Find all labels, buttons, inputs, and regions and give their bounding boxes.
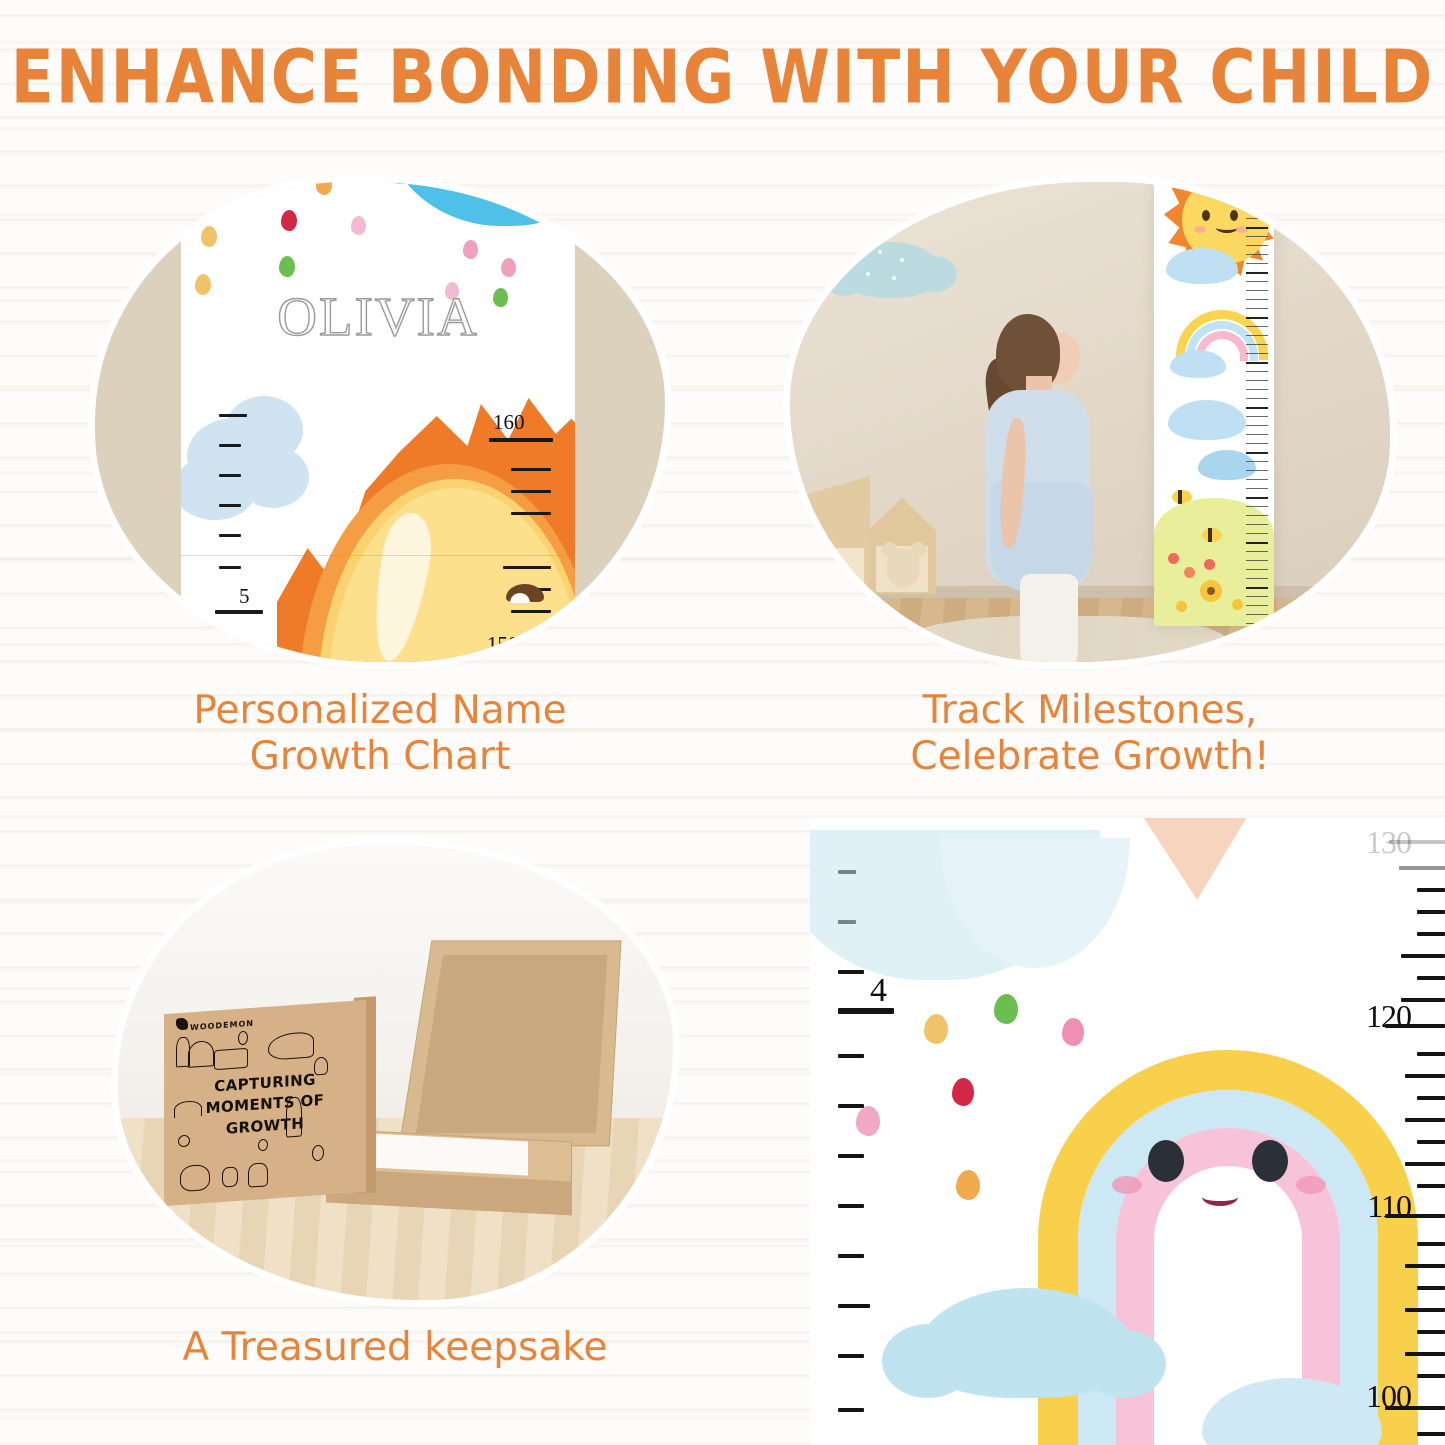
ruler-tick-left (838, 1154, 864, 1158)
ruler-tick-left (219, 414, 247, 417)
confetti-dot (201, 226, 217, 247)
tulip-icon (1184, 567, 1195, 578)
animal-doodle (222, 1166, 238, 1187)
cloud-icon (1168, 400, 1246, 440)
palm-tree-doodle (248, 1162, 268, 1187)
cactus-doodle (176, 1037, 190, 1068)
ruler-number-left: 5 (239, 584, 250, 609)
chart-board: OLIVIA 5 160 150 (181, 182, 575, 662)
ruler-number-120: 120 (1366, 998, 1411, 1035)
ruler-tick-right (511, 468, 551, 471)
confetti-dot (952, 1078, 974, 1106)
sunflower-icon (1200, 580, 1222, 602)
rainbow-cheek-left (1112, 1176, 1142, 1194)
ruler-tick (1417, 1140, 1445, 1144)
sun-cheek (1194, 226, 1206, 233)
ruler-tick (1417, 1184, 1445, 1188)
ruler-graduations-major (1246, 182, 1268, 626)
ruler-tick-mid (1401, 954, 1445, 958)
ruler-tick-left (838, 1408, 864, 1412)
ruler-tick-left-major (215, 610, 263, 614)
panel-personalized-chart: OLIVIA 5 160 150 (95, 182, 665, 662)
bee-icon (1202, 528, 1222, 542)
ruler-tick-left (838, 1104, 864, 1108)
ruler-tick-left (838, 1054, 864, 1058)
rainbow-eye-right (1252, 1140, 1288, 1182)
ruler-number-left-4: 4 (870, 972, 887, 1010)
ruler-tick-major (1385, 1406, 1445, 1410)
ruler-tick-major (1399, 866, 1445, 870)
ruler-tick-major (1385, 1214, 1445, 1218)
confetti-dot (994, 994, 1018, 1024)
peach-sun-ray (1140, 818, 1250, 900)
teddy-bear-ear (882, 542, 898, 558)
caption-personalized-chart: Personalized Name Growth Chart (95, 688, 665, 780)
blue-cloud (381, 182, 575, 226)
ruler-tick-left (838, 970, 864, 974)
ruler-tick (1417, 932, 1445, 936)
lion-body-doodle (214, 1048, 248, 1070)
ruler-number-right: 150 (487, 632, 519, 657)
confetti-dot (1062, 1018, 1084, 1046)
ruler-tick-left (219, 566, 241, 569)
page-headline: ENHANCE BONDING WITH YOUR CHILD (0, 40, 1445, 114)
tulip-icon (1168, 553, 1179, 564)
ruler-tick-right (511, 512, 551, 515)
ruler-tick-left (219, 474, 241, 477)
ruler-tick-mid (1405, 1308, 1445, 1312)
ruler-tick-major (1385, 1024, 1445, 1028)
confetti-dot (251, 182, 267, 188)
lion-doodle (188, 1040, 214, 1068)
caption-room-scene: Track Milestones, Celebrate Growth! (790, 688, 1390, 780)
ruler-tick (1417, 1052, 1445, 1056)
ruler-tick-left (219, 534, 241, 537)
confetti-dot (501, 258, 516, 277)
ruler-tick-mid (1405, 1118, 1445, 1122)
rainbow-eye-left (1148, 1140, 1184, 1182)
personalized-name-text: OLIVIA (181, 285, 575, 348)
sunflower-icon-small (1176, 601, 1187, 612)
confetti-dot (956, 1170, 980, 1200)
girl-leggings (1020, 574, 1078, 662)
ruler-tick (1417, 910, 1445, 914)
ruler-tick-right (503, 566, 551, 569)
panel-rainbow-closeup: 130 120 110 100 (810, 818, 1445, 1445)
ruler-tick-mid (1405, 1264, 1445, 1268)
ruler-tick (1417, 1330, 1445, 1334)
ruler-tick-left (838, 870, 856, 874)
sun-smile (1216, 222, 1238, 233)
sun-eye (1202, 210, 1210, 221)
rainbow-smile (1202, 1188, 1238, 1206)
ruler-number-110: 110 (1367, 1188, 1411, 1225)
ruler-tick-mid (1405, 1074, 1445, 1078)
ruler-tick-right (511, 610, 551, 613)
ruler-tick-mid (1405, 1352, 1445, 1356)
ruler-tick-left (838, 1204, 864, 1208)
confetti-dot (199, 184, 214, 203)
spotted-plush-toy (804, 562, 856, 592)
ruler-tick (1417, 1242, 1445, 1246)
confetti-dot (924, 1014, 948, 1044)
ruler-tick-left (838, 1304, 870, 1308)
infographic-page: ENHANCE BONDING WITH YOUR CHILD (0, 0, 1445, 1445)
confetti-dot (279, 256, 295, 277)
open-box-lid-interior (416, 955, 608, 1133)
sun-eye (1230, 210, 1238, 221)
panel-keepsake-box: WOODEMON CAPTURING MOMENTS OF GROWTH (118, 845, 673, 1300)
tulip-icon (1204, 559, 1215, 570)
ruler-tick-left (219, 504, 241, 507)
ruler-tick (1417, 1374, 1445, 1378)
board-seam-line (181, 555, 575, 556)
box-printed-title: CAPTURING MOMENTS OF GROWTH (170, 1066, 360, 1143)
ruler-tick-mid (1405, 1162, 1445, 1166)
confetti-dot (351, 216, 366, 235)
ruler-tick-left (219, 444, 241, 447)
confetti-dot (281, 210, 297, 231)
ruler-tick (1417, 888, 1445, 892)
woodemon-logo-mark (176, 1018, 188, 1031)
plush-cloud-decor (838, 242, 943, 298)
caption-keepsake-box: A Treasured keepsake (110, 1325, 680, 1371)
ruler-tick (1417, 1286, 1445, 1290)
soft-cloud-part (237, 446, 309, 508)
confetti-dot (316, 182, 332, 195)
panel-room-scene (790, 182, 1390, 662)
ruler-tick (1417, 1096, 1445, 1100)
confetti-dot (463, 240, 478, 259)
ruler-tick-left (838, 920, 856, 924)
ruler-tick-right-major (489, 438, 553, 442)
wall-mounted-growth-ruler (1154, 182, 1274, 626)
teddy-bear-ear (910, 542, 926, 558)
cloud-icon (1170, 350, 1226, 378)
ruler-tick-left (838, 1254, 864, 1258)
rainbow-cheek-right (1296, 1176, 1326, 1194)
ruler-tick (1417, 1432, 1445, 1436)
ruler-tick-right (511, 490, 551, 493)
ruler-tick (1417, 976, 1445, 980)
ruler-tick-major (1389, 840, 1445, 844)
ruler-tick-left (838, 1354, 864, 1358)
confetti-dot (856, 1106, 880, 1136)
sunflower-icon-small (1232, 599, 1243, 610)
cloud-icon (1166, 248, 1238, 284)
ruler-number-right: 160 (493, 410, 525, 435)
toucan-doodle (180, 1164, 210, 1192)
